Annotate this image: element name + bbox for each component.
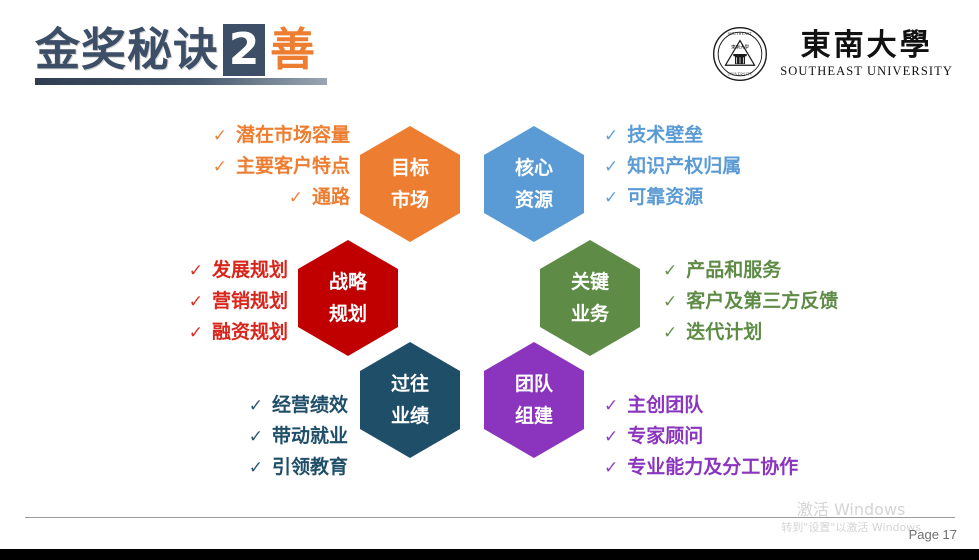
bullet-label: 知识产权归属 [627, 157, 741, 176]
footer-divider [25, 517, 955, 518]
bullet-label: 带动就业 [272, 427, 348, 446]
check-icon: ✓ [249, 429, 263, 446]
bullet-item: ✓ 引领教育 [0, 458, 348, 477]
bullets-key-business: ✓ 产品和服务 ✓ 客户及第三方反馈 ✓ 迭代计划 [663, 261, 979, 354]
hexagon-strategic-plan[interactable]: 战略 规划 [298, 240, 398, 356]
bullet-label: 主创团队 [627, 396, 703, 415]
bullet-label: 客户及第三方反馈 [686, 292, 838, 311]
bullet-item: ✓ 主创团队 [604, 396, 974, 415]
bullet-item: ✓ 专业能力及分工协作 [604, 458, 974, 477]
check-icon: ✓ [289, 190, 303, 207]
bullet-label: 可靠资源 [627, 188, 703, 207]
hexagon-team-building-line1: 团队 [515, 375, 553, 394]
check-icon: ✓ [189, 325, 203, 342]
check-icon: ✓ [604, 128, 618, 145]
hexagon-team-building[interactable]: 团队 组建 [484, 342, 584, 458]
university-logo: 東南大學 SOUTHEAST UNIVERSITY 東南大學 SOUTHEAST… [712, 26, 953, 82]
bullet-label: 迭代计划 [686, 323, 762, 342]
check-icon: ✓ [213, 159, 227, 176]
check-icon: ✓ [604, 460, 618, 477]
check-icon: ✓ [663, 263, 677, 280]
windows-activation-watermark: 激活 Windows 转到"设置"以激活 Windows [781, 500, 921, 536]
bullet-item: ✓ 潜在市场容量 [0, 126, 350, 145]
bullet-label: 技术壁垒 [627, 126, 703, 145]
hexagon-target-market-line1: 目标 [391, 159, 429, 178]
bullet-item: ✓ 发展规划 [0, 261, 288, 280]
logo-name-cn: 東南大學 [801, 31, 933, 61]
bullet-item: ✓ 知识产权归属 [604, 157, 964, 176]
hexagon-strategic-plan-line1: 战略 [329, 273, 367, 292]
hexagon-target-market-line2: 市场 [391, 191, 429, 210]
hexagon-key-business-line2: 业务 [571, 305, 609, 324]
hexagon-target-market[interactable]: 目标 市场 [360, 126, 460, 242]
bullet-label: 主要客户特点 [236, 157, 350, 176]
hexagon-core-resources[interactable]: 核心 资源 [484, 126, 584, 242]
check-icon: ✓ [213, 128, 227, 145]
watermark-line-2: 转到"设置"以激活 Windows [781, 520, 921, 536]
bullets-past-results: ✓ 经营绩效 ✓ 带动就业 ✓ 引领教育 [0, 396, 348, 489]
bullet-label: 潜在市场容量 [236, 126, 350, 145]
bottom-black-bar [0, 549, 979, 560]
bullet-item: ✓ 可靠资源 [604, 188, 964, 207]
check-icon: ✓ [189, 263, 203, 280]
bullet-item: ✓ 融资规划 [0, 323, 288, 342]
slide-canvas: 金奖秘诀 2 善 東南大學 SOUTHEAST UNIVERSITY 東南大學 … [0, 0, 979, 560]
southeast-university-seal-icon: 東南大學 SOUTHEAST UNIVERSITY [712, 26, 768, 82]
title-main-text: 金奖秘诀 [35, 24, 219, 76]
bullet-item: ✓ 带动就业 [0, 427, 348, 446]
hexagon-strategic-plan-line2: 规划 [329, 305, 367, 324]
title-underline-bar [35, 78, 327, 85]
hexagon-key-business-line1: 关键 [571, 273, 609, 292]
logo-name-en: SOUTHEAST UNIVERSITY [780, 65, 953, 78]
check-icon: ✓ [663, 294, 677, 311]
bullet-label: 融资规划 [212, 323, 288, 342]
bullet-label: 发展规划 [212, 261, 288, 280]
bullet-item: ✓ 通路 [0, 188, 350, 207]
hexagon-past-results[interactable]: 过往 业绩 [360, 342, 460, 458]
bullets-team-building: ✓ 主创团队 ✓ 专家顾问 ✓ 专业能力及分工协作 [604, 396, 974, 489]
slide-title: 金奖秘诀 2 善 [35, 20, 315, 88]
check-icon: ✓ [663, 325, 677, 342]
bullet-item: ✓ 经营绩效 [0, 396, 348, 415]
bullet-label: 通路 [312, 188, 350, 207]
bullet-item: ✓ 主要客户特点 [0, 157, 350, 176]
bullet-item: ✓ 客户及第三方反馈 [663, 292, 979, 311]
title-number-badge: 2 [223, 24, 265, 76]
hexagon-past-results-line1: 过往 [391, 375, 429, 394]
check-icon: ✓ [604, 190, 618, 207]
hexagon-key-business[interactable]: 关键 业务 [540, 240, 640, 356]
bullet-label: 专家顾问 [627, 427, 703, 446]
bullet-label: 经营绩效 [272, 396, 348, 415]
check-icon: ✓ [604, 159, 618, 176]
bullet-item: ✓ 营销规划 [0, 292, 288, 311]
bullet-item: ✓ 专家顾问 [604, 427, 974, 446]
hexagon-core-resources-line2: 资源 [515, 191, 553, 210]
bullet-label: 引领教育 [272, 458, 348, 477]
bullets-target-market: ✓ 潜在市场容量 ✓ 主要客户特点 ✓ 通路 [0, 126, 350, 219]
check-icon: ✓ [604, 429, 618, 446]
check-icon: ✓ [604, 398, 618, 415]
bullet-label: 营销规划 [212, 292, 288, 311]
bullet-label: 产品和服务 [686, 261, 781, 280]
bullet-label: 专业能力及分工协作 [627, 458, 798, 477]
svg-text:SOUTHEAST: SOUTHEAST [728, 32, 753, 36]
bullet-item: ✓ 产品和服务 [663, 261, 979, 280]
bullet-item: ✓ 迭代计划 [663, 323, 979, 342]
hexagon-team-building-line2: 组建 [515, 407, 553, 426]
hexagon-past-results-line2: 业绩 [391, 407, 429, 426]
check-icon: ✓ [249, 398, 263, 415]
bullets-strategic-plan: ✓ 发展规划 ✓ 营销规划 ✓ 融资规划 [0, 261, 288, 354]
title-accent-text: 善 [270, 24, 315, 76]
bullet-item: ✓ 技术壁垒 [604, 126, 964, 145]
bullets-core-resources: ✓ 技术壁垒 ✓ 知识产权归属 ✓ 可靠资源 [604, 126, 964, 219]
svg-text:UNIVERSITY: UNIVERSITY [728, 72, 753, 76]
page-number: Page 17 [909, 527, 957, 542]
check-icon: ✓ [189, 294, 203, 311]
check-icon: ✓ [249, 460, 263, 477]
hexagon-core-resources-line1: 核心 [515, 159, 553, 178]
